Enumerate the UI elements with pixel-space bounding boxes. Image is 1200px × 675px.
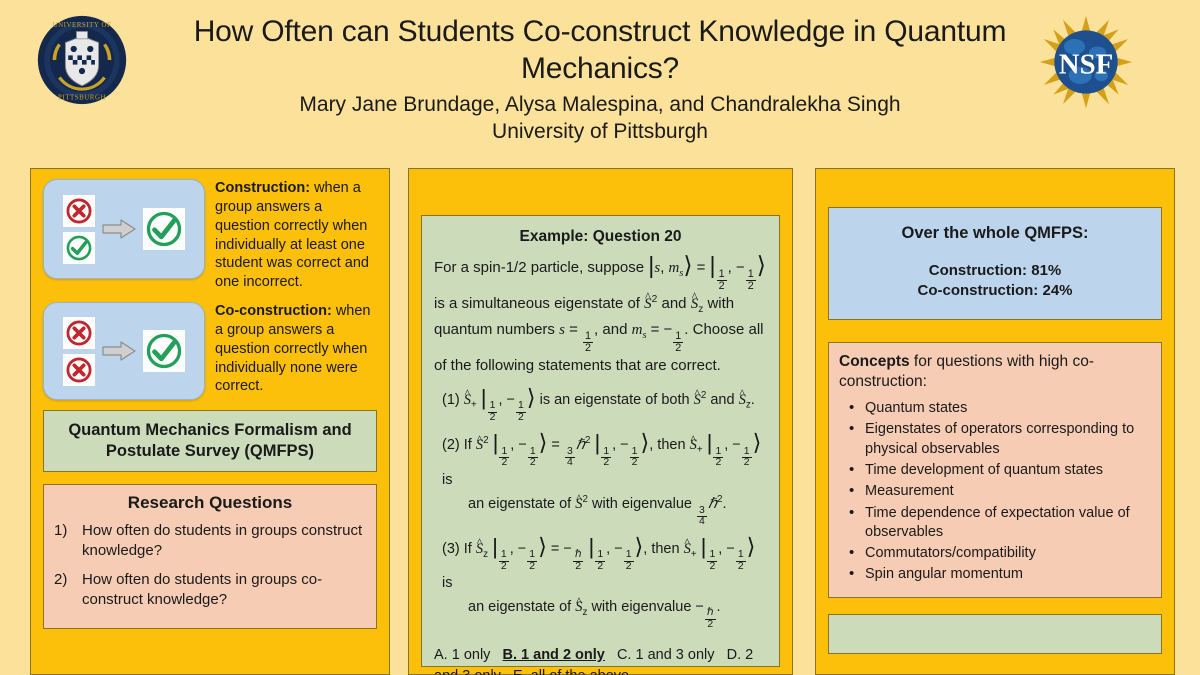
co-construction-diagram <box>43 302 205 400</box>
statement-text: with eigenvalue <box>591 599 691 615</box>
stem-part: and <box>662 295 687 312</box>
example-question-stem: For a spin-1/2 particle, suppose |s, ms⟩… <box>434 256 767 378</box>
svg-text:UNIVERSITY OF: UNIVERSITY OF <box>53 22 112 29</box>
concept-item: Commutators/compatibility <box>845 544 1151 563</box>
statement-text: , then <box>643 541 679 557</box>
statement-text: is <box>442 472 452 488</box>
svg-text:PITTSBURGH: PITTSBURGH <box>58 95 106 102</box>
right-column-panel: Over the whole QMFPS: Construction: 81% … <box>815 168 1175 675</box>
example-question-title: Example: Question 20 <box>434 228 767 246</box>
statement-text: , then <box>649 437 685 453</box>
correct-icon <box>143 330 185 372</box>
nsf-wordmark: NSF <box>1059 49 1113 81</box>
research-question-text: How often do students in groups co-const… <box>82 570 366 610</box>
nsf-logo-icon: NSF <box>1038 14 1134 110</box>
question-statement-1: (1) S+ |12, −12⟩ is an eigenstate of bot… <box>442 388 767 423</box>
university-of-pittsburgh-seal-icon: UNIVERSITY OF PITTSBURGH <box>36 14 128 106</box>
poster-title: How Often can Students Co-construct Know… <box>170 14 1030 87</box>
statement-text: and <box>710 392 734 408</box>
answer-option-e[interactable]: E. all of the above <box>513 668 629 675</box>
arrow-right-icon <box>99 217 139 241</box>
poster-header: UNIVERSITY OF PITTSBURGH <box>0 0 1200 165</box>
construction-diagram <box>43 179 205 279</box>
incorrect-icon <box>63 195 95 227</box>
research-question-text: How often do students in groups construc… <box>82 521 366 561</box>
research-question-item: 2) How often do students in groups co-co… <box>54 570 366 610</box>
definition-co-construction-text: Co-construction: when a group answers a … <box>215 302 377 396</box>
definition-co-construction-term: Co-construction: <box>215 303 332 319</box>
overall-construction-stat: Construction: 81% <box>839 261 1151 281</box>
concept-item: Spin angular momentum <box>845 565 1151 584</box>
statement-text: If <box>464 437 472 453</box>
answer-option-c[interactable]: C. 1 and 3 only <box>617 647 715 663</box>
co-construction-inputs <box>63 317 95 386</box>
stem-part: . Choose all <box>684 321 763 338</box>
research-questions-box: Research Questions 1) How often do stude… <box>43 484 377 629</box>
definition-construction-body: when a group answers a question correctl… <box>215 180 369 290</box>
concepts-heading: Concepts for questions with high co-cons… <box>839 352 1151 394</box>
overall-results-box: Over the whole QMFPS: Construction: 81% … <box>828 207 1162 320</box>
research-question-number: 2) <box>54 570 74 610</box>
stem-part: of the following statements that are cor… <box>434 357 721 374</box>
research-question-item: 1) How often do students in groups const… <box>54 521 366 561</box>
statement-text: If <box>464 541 472 557</box>
stem-part: with <box>707 295 734 312</box>
question-statement-2: (2) If S2 |12, −12⟩ = 34ℏ2 |12, −12⟩, th… <box>442 433 767 527</box>
stem-part: is <box>434 295 445 312</box>
left-column-panel: Construction: when a group answers a que… <box>30 168 390 675</box>
concepts-heading-bold: Concepts <box>839 353 910 370</box>
conference-poster: UNIVERSITY OF PITTSBURGH <box>0 0 1200 675</box>
concepts-list: Quantum states Eigenstates of operators … <box>839 399 1151 585</box>
construction-inputs <box>63 195 95 264</box>
overall-co-construction-stat: Co-construction: 24% <box>839 281 1151 301</box>
concept-item: Eigenstates of operators corresponding t… <box>845 420 1151 459</box>
statement-label: (3) <box>442 541 460 557</box>
arrow-right-icon <box>99 339 139 363</box>
statement-text: is an eigenstate of both <box>540 392 690 408</box>
poster-authors: Mary Jane Brundage, Alysa Malespina, and… <box>170 91 1030 118</box>
statement-label: (2) <box>442 437 460 453</box>
incorrect-icon <box>63 317 95 349</box>
concept-item: Quantum states <box>845 399 1151 418</box>
next-section-box-partial <box>828 614 1162 654</box>
overall-results-title: Over the whole QMFPS: <box>839 224 1151 243</box>
correct-icon <box>143 208 185 250</box>
answer-option-b[interactable]: B. 1 and 2 only <box>503 647 605 663</box>
poster-affiliation: University of Pittsburgh <box>170 118 1030 145</box>
title-block: How Often can Students Co-construct Know… <box>170 14 1030 146</box>
incorrect-icon <box>63 354 95 386</box>
statement-text: with eigenvalue <box>592 496 692 512</box>
concept-item: Time development of quantum states <box>845 461 1151 480</box>
stem-part: quantum numbers <box>434 321 555 338</box>
concept-item: Time dependence of expectation value of … <box>845 504 1151 543</box>
stem-part: , and <box>594 321 627 338</box>
qmfps-survey-box: Quantum Mechanics Formalism and Postulat… <box>43 410 377 472</box>
concept-item: Measurement <box>845 482 1151 501</box>
research-questions-title: Research Questions <box>54 493 366 513</box>
example-question-box: Example: Question 20 For a spin-1/2 part… <box>421 215 780 667</box>
definition-construction: Construction: when a group answers a que… <box>43 179 377 292</box>
concepts-box: Concepts for questions with high co-cons… <box>828 342 1162 598</box>
answer-option-a[interactable]: A. 1 only <box>434 647 490 663</box>
poster-columns: Construction: when a group answers a que… <box>0 168 1200 675</box>
statement-text: an eigenstate of <box>468 599 571 615</box>
correct-icon <box>63 232 95 264</box>
statement-text: is <box>442 575 452 591</box>
stem-part: a simultaneous eigenstate of <box>449 295 640 312</box>
research-question-number: 1) <box>54 521 74 561</box>
definition-co-construction: Co-construction: when a group answers a … <box>43 302 377 400</box>
answer-options: A. 1 only B. 1 and 2 only C. 1 and 3 onl… <box>434 645 767 675</box>
middle-column-panel: Example: Question 20 For a spin-1/2 part… <box>408 168 793 675</box>
stem-part: For a spin-1/2 particle, suppose <box>434 259 644 276</box>
question-statement-3: (3) If Sz |12, −12⟩ = −ℏ2 |12, −12⟩, the… <box>442 538 767 631</box>
statement-label: (1) <box>442 392 460 408</box>
definition-construction-term: Construction: <box>215 180 310 196</box>
definition-construction-text: Construction: when a group answers a que… <box>215 179 377 292</box>
statement-text: an eigenstate of <box>468 496 571 512</box>
